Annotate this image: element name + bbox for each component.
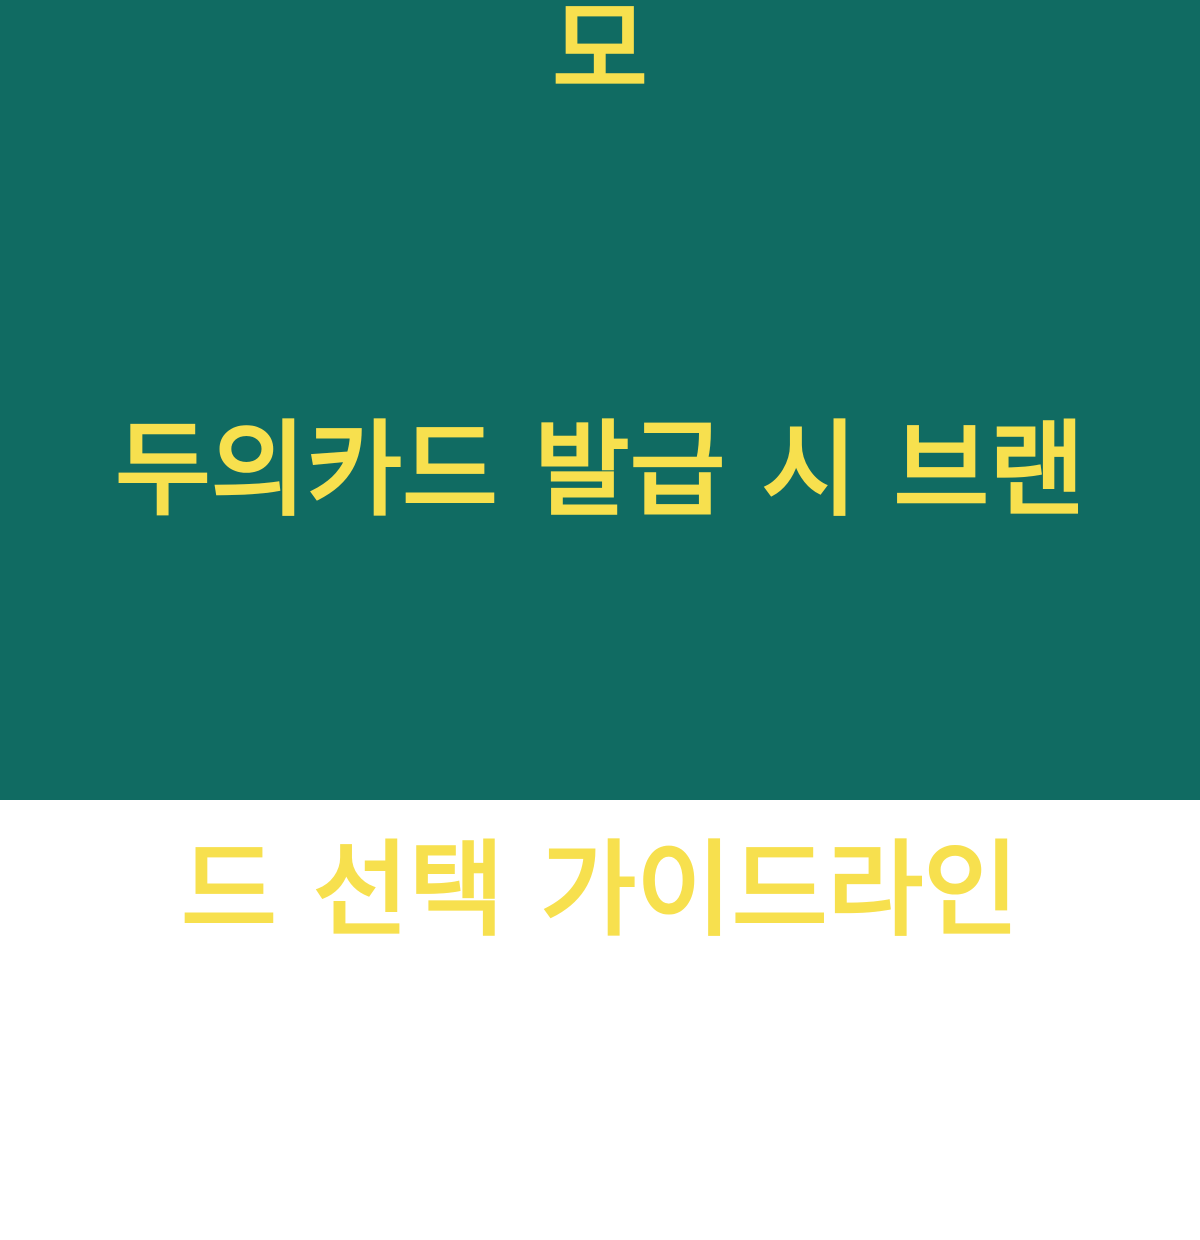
headline-line-1: 해외 여행 전 필수인 모 bbox=[100, 0, 1100, 120]
page-title: 해외 여행 전 필수인 모 두의카드 발급 시 브랜 드 선택 가이드라인 bbox=[100, 0, 1100, 1240]
banner-canvas: 해외 여행 전 필수인 모 두의카드 발급 시 브랜 드 선택 가이드라인 bbox=[0, 0, 1200, 800]
headline-line-3: 드 선택 가이드라인 bbox=[100, 820, 1100, 960]
headline-line-2: 두의카드 발급 시 브랜 bbox=[100, 400, 1100, 540]
